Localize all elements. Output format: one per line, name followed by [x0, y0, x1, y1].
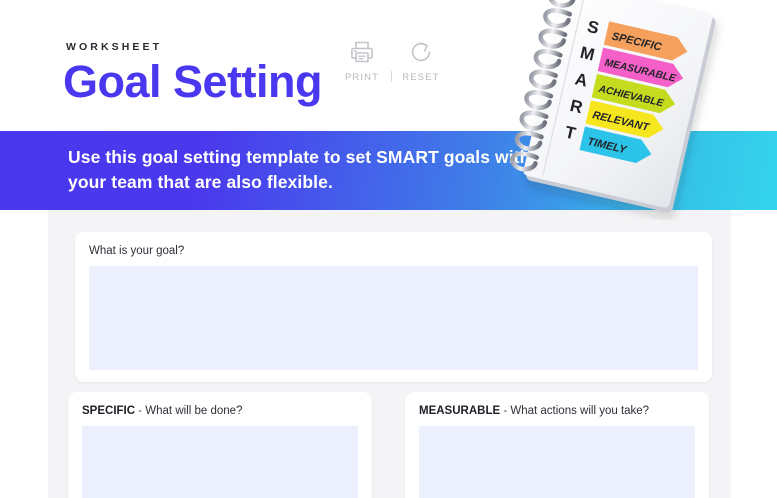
- goal-card: What is your goal?: [75, 232, 712, 382]
- page-title: Goal Setting: [63, 56, 322, 108]
- print-label: PRINT: [345, 72, 379, 83]
- specific-term: SPECIFIC: [82, 405, 135, 417]
- page-header: WORKSHEET Goal Setting PRINT |: [0, 0, 777, 131]
- specific-card: SPECIFIC - What will be done?: [68, 392, 372, 498]
- goal-input[interactable]: [89, 266, 698, 370]
- header-actions: PRINT | RESET: [336, 38, 447, 83]
- reset-button[interactable]: RESET: [395, 38, 447, 83]
- body-area: What is your goal? SPECIFIC - What will …: [0, 210, 777, 498]
- page-kicker: WORKSHEET: [66, 41, 162, 53]
- goal-setting-worksheet-page: What is your goal? SPECIFIC - What will …: [0, 0, 777, 498]
- specific-dash: -: [135, 405, 145, 417]
- print-button[interactable]: PRINT: [336, 38, 388, 83]
- banner-text: Use this goal setting template to set SM…: [68, 145, 538, 195]
- specific-question: What will be done?: [145, 405, 242, 417]
- content-panel: What is your goal? SPECIFIC - What will …: [48, 210, 731, 498]
- printer-icon: [349, 38, 375, 66]
- action-separator: |: [390, 70, 393, 83]
- measurable-field-label: MEASURABLE - What actions will you take?: [419, 405, 649, 417]
- measurable-card: MEASURABLE - What actions will you take?: [405, 392, 709, 498]
- measurable-input[interactable]: [419, 426, 695, 498]
- smart-banner: Use this goal setting template to set SM…: [0, 131, 777, 210]
- specific-input[interactable]: [82, 426, 358, 498]
- measurable-dash: -: [500, 405, 510, 417]
- refresh-icon: [408, 38, 434, 66]
- reset-label: RESET: [402, 72, 439, 83]
- measurable-term: MEASURABLE: [419, 405, 500, 417]
- specific-field-label: SPECIFIC - What will be done?: [82, 405, 242, 417]
- goal-field-label: What is your goal?: [89, 245, 184, 257]
- measurable-question: What actions will you take?: [510, 405, 649, 417]
